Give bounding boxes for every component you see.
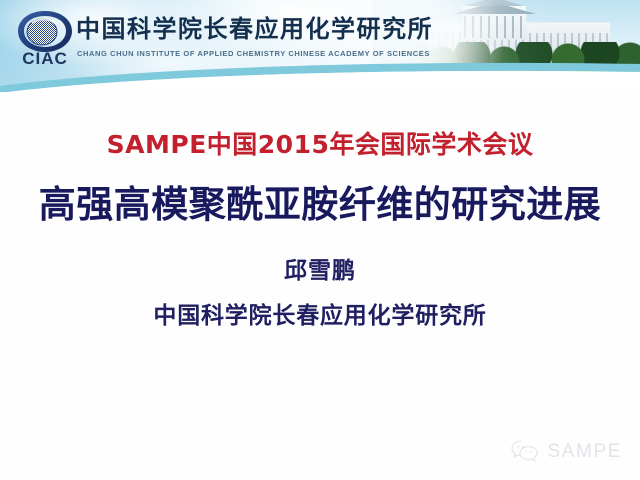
- organization-name-en: CHANG CHUN INSTITUTE OF APPLIED CHEMISTR…: [77, 50, 430, 57]
- sampe-watermark: SAMPE: [510, 438, 622, 464]
- watermark-label: SAMPE: [547, 442, 622, 461]
- author-affiliation: 中国科学院长春应用化学研究所: [0, 304, 640, 329]
- header-banner: CIAC 中国科学院长春应用化学研究所 CHANG CHUN INSTITUTE…: [0, 0, 640, 92]
- presentation-slide: CIAC 中国科学院长春应用化学研究所 CHANG CHUN INSTITUTE…: [0, 0, 640, 480]
- slide-body: SAMPE中国2015年会国际学术会议 高强高模聚酰亚胺纤维的研究进展 邱雪鹏 …: [0, 92, 640, 480]
- presentation-title: 高强高模聚酰亚胺纤维的研究进展: [0, 184, 640, 227]
- ciac-swoosh-logo-icon: [16, 10, 74, 54]
- teal-swoosh-divider: [0, 60, 640, 92]
- organization-name-cn: 中国科学院长春应用化学研究所: [76, 17, 433, 41]
- conference-title: SAMPE中国2015年会国际学术会议: [0, 131, 640, 159]
- wechat-bubbles-icon: [510, 438, 540, 464]
- author-name: 邱雪鹏: [0, 259, 640, 284]
- ciac-acronym: CIAC: [14, 50, 76, 67]
- ciac-logo: CIAC: [14, 10, 76, 72]
